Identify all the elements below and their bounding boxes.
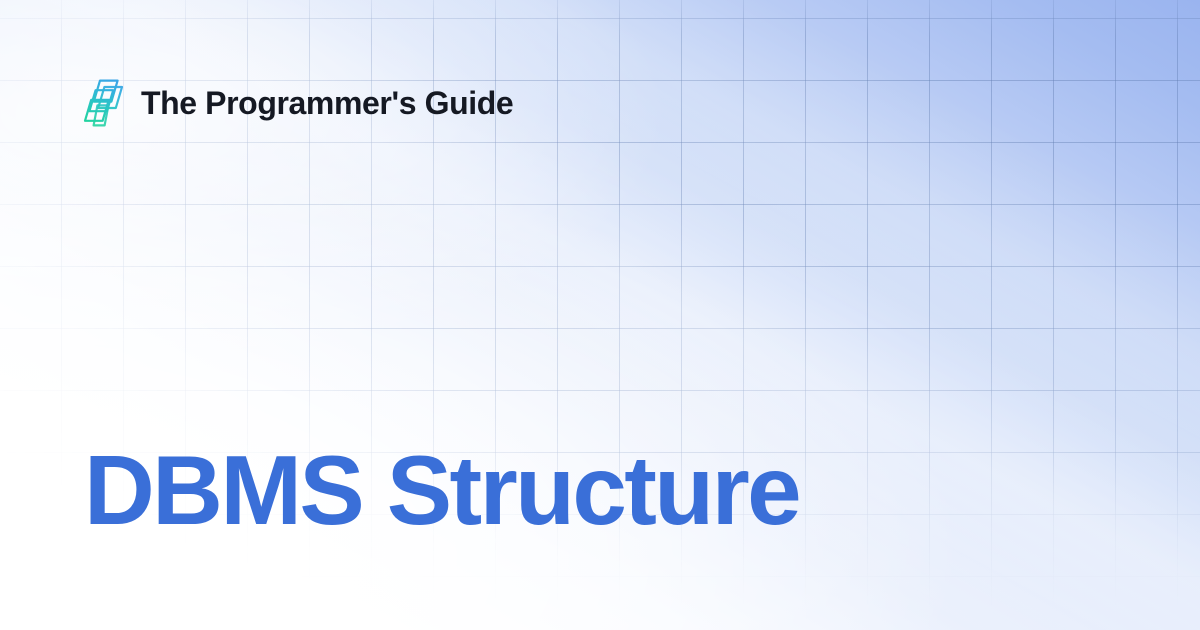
- card-content: The Programmer's Guide DBMS Structure: [0, 0, 1200, 630]
- brand-logo: [78, 78, 124, 128]
- brand-name: The Programmer's Guide: [141, 87, 513, 119]
- stacked-rhombus-logo-icon: [78, 78, 124, 128]
- og-card: The Programmer's Guide DBMS Structure: [0, 0, 1200, 630]
- brand-lockup: The Programmer's Guide: [78, 78, 513, 128]
- page-title: DBMS Structure: [84, 440, 799, 542]
